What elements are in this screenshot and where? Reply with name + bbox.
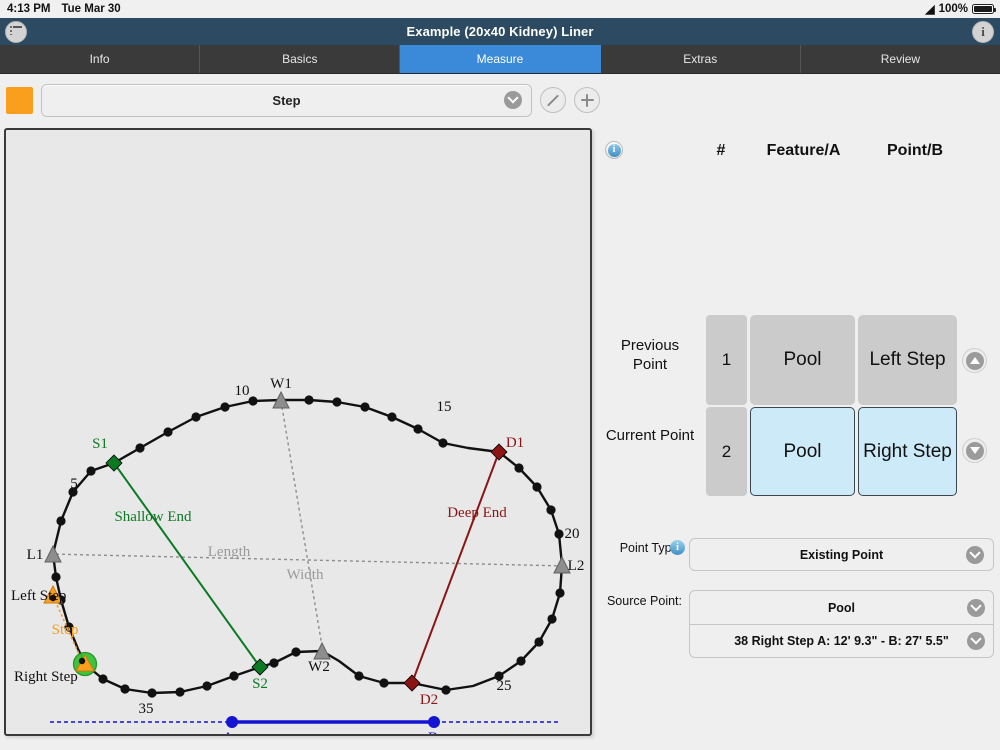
feature-toolbar: Step [0, 74, 600, 126]
baseline-point-b[interactable] [428, 716, 440, 728]
status-time: 4:13 PM [7, 3, 50, 15]
source-point-select[interactable]: 38 Right Step A: 12' 9.3" - B: 27' 5.5" [690, 624, 993, 657]
row-label-previous-point: Previous Point [604, 336, 696, 374]
chevron-down-icon [966, 546, 984, 564]
perimeter-label-5: 5 [70, 476, 78, 492]
table-row-2-point[interactable]: Right Step [858, 407, 957, 496]
step-label: Step [52, 622, 79, 638]
source-point-value: 38 Right Step A: 12' 9.3" - B: 27' 5.5" [734, 634, 949, 648]
shallow-end-label: Shallow End [114, 509, 192, 525]
marker-label-S2: S2 [252, 676, 268, 692]
wifi-icon: ◢ [925, 3, 934, 15]
source-point-label: Source Point: [596, 594, 682, 608]
battery-full-icon [972, 4, 994, 14]
column-header-number: # [696, 142, 746, 160]
list-menu-icon[interactable] [5, 21, 27, 43]
table-row-1-point[interactable]: Left Step [858, 315, 957, 405]
point-type-value: Existing Point [800, 548, 883, 562]
info-circle-icon[interactable]: i [972, 21, 994, 43]
tab-measure[interactable]: Measure [400, 45, 600, 73]
column-header-feature: Feature/A [751, 142, 856, 160]
tab-bar: Info Basics Measure Extras Review [0, 45, 1000, 74]
baseline-label-b: B [428, 730, 438, 734]
pool-measurement-diagram[interactable]: 5 10 15 20 25 35 W1 W2 L1 L2 S1 S2 D1 D2… [4, 128, 592, 736]
marker-label-W1: W1 [270, 376, 292, 392]
table-row-2-number[interactable]: 2 [706, 407, 747, 496]
tab-extras[interactable]: Extras [601, 45, 801, 73]
feature-select-label: Step [272, 93, 300, 108]
deep-end-label: Deep End [447, 505, 507, 521]
plus-icon[interactable] [574, 87, 600, 113]
perimeter-label-15: 15 [437, 399, 452, 415]
page-title: Example (20x40 Kidney) Liner [406, 24, 593, 39]
pool-outline [53, 400, 562, 693]
menu-lines-glyph [10, 26, 22, 37]
deep-end-line [412, 452, 499, 683]
feature-color-swatch[interactable] [6, 87, 33, 114]
point-type-select[interactable]: Existing Point [689, 538, 994, 571]
status-bar: 4:13 PM Tue Mar 30 ◢ 100% [0, 0, 1000, 18]
marker-label-D1: D1 [506, 435, 524, 451]
width-label: Width [287, 567, 324, 583]
table-row-1-number[interactable]: 1 [706, 315, 747, 405]
row-label-current-point: Current Point [604, 426, 696, 445]
perimeter-label-35: 35 [139, 701, 154, 717]
tab-basics[interactable]: Basics [200, 45, 400, 73]
marker-label-L1: L1 [27, 547, 44, 563]
baseline-label-a: A [223, 730, 234, 734]
tab-review[interactable]: Review [801, 45, 1000, 73]
table-row-2-feature[interactable]: Pool [750, 407, 855, 496]
chevron-down-icon [504, 91, 522, 109]
perimeter-label-25: 25 [497, 678, 512, 694]
marker-triangles [45, 392, 570, 659]
info-circle-icon[interactable]: i [670, 540, 685, 555]
chevron-down-icon [967, 599, 985, 617]
table-row-1-feature[interactable]: Pool [750, 315, 855, 405]
length-guide-line [50, 554, 566, 566]
length-label: Length [208, 544, 251, 560]
tab-info[interactable]: Info [0, 45, 200, 73]
marker-label-W2: W2 [308, 659, 330, 675]
arrow-down-circle-icon[interactable] [962, 438, 987, 463]
info-circle-icon[interactable]: i [605, 141, 623, 159]
baseline-point-a[interactable] [226, 716, 238, 728]
shallow-end-line [114, 463, 260, 667]
marker-label-S1: S1 [92, 436, 108, 452]
right-step-label: Right Step [14, 669, 78, 685]
battery-percent-label: 100% [939, 3, 968, 15]
navigation-bar: Example (20x40 Kidney) Liner i [0, 18, 1000, 45]
right-step-dot [79, 658, 85, 664]
source-feature-select[interactable]: Pool [690, 591, 993, 624]
arrow-up-circle-icon[interactable] [962, 348, 987, 373]
measurement-side-panel: i # Feature/A Point/B Previous Point Cur… [596, 128, 1000, 750]
pool-diagram-svg[interactable]: 5 10 15 20 25 35 W1 W2 L1 L2 S1 S2 D1 D2… [6, 130, 590, 734]
marker-label-L2: L2 [568, 558, 585, 574]
left-step-label: Left Step [11, 588, 66, 604]
perimeter-label-10: 10 [235, 383, 250, 399]
status-date: Tue Mar 30 [61, 3, 120, 15]
feature-select[interactable]: Step [41, 84, 532, 117]
source-point-select-group: Pool 38 Right Step A: 12' 9.3" - B: 27' … [689, 590, 994, 658]
source-feature-value: Pool [828, 601, 855, 615]
perimeter-label-20: 20 [565, 526, 580, 542]
pencil-icon[interactable] [540, 87, 566, 113]
column-header-point: Point/B [858, 142, 972, 160]
chevron-down-icon [967, 632, 985, 650]
width-guide-line [281, 401, 323, 652]
marker-label-D2: D2 [420, 692, 438, 708]
